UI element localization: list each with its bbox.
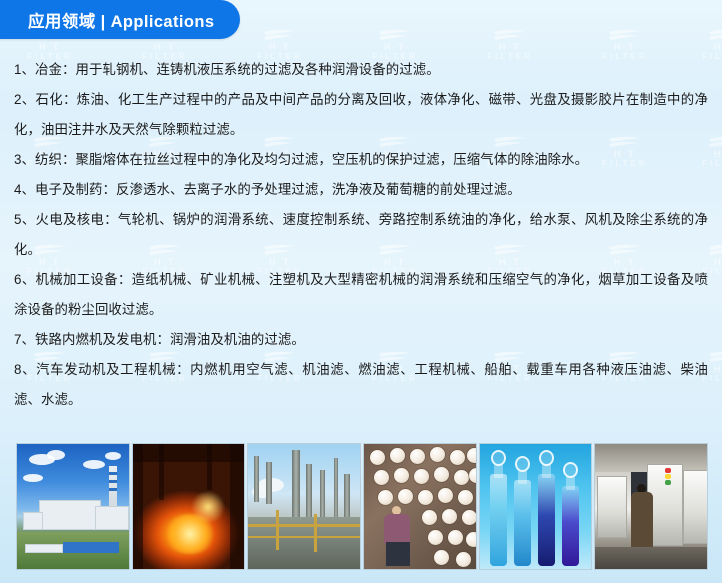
- machine-status-light: [665, 468, 671, 473]
- application-item-1: 1、冶金：用于轧钢机、连铸机液压系统的过滤及各种润滑设备的过滤。: [14, 55, 708, 85]
- cnc-operator: [631, 492, 653, 548]
- machine-status-light: [665, 480, 671, 485]
- gallery-photo-power-plant[interactable]: [16, 443, 130, 570]
- application-gallery: [16, 443, 708, 570]
- application-item-3: 3、纺织：聚脂熔体在拉丝过程中的净化及均匀过滤，空压机的保护过滤，压缩气体的除油…: [14, 145, 708, 175]
- application-item-5: 5、火电及核电：气轮机、锅炉的润滑系统、速度控制系统、旁路控制系统油的净化，给水…: [14, 205, 708, 265]
- section-title-pill: 应用领域 | Applications: [0, 0, 240, 39]
- gallery-photo-laboratory-glassware[interactable]: [479, 443, 593, 570]
- gallery-photo-cnc-workshop[interactable]: [594, 443, 708, 570]
- gallery-photo-textile-factory[interactable]: [363, 443, 477, 570]
- application-item-2: 2、石化：炼油、化工生产过程中的产品及中间产品的分离及回收，液体净化、磁带、光盘…: [14, 85, 708, 145]
- machine-status-light: [665, 474, 671, 479]
- page-header: 应用领域 | Applications: [0, 0, 722, 47]
- application-item-7: 7、铁路内燃机及发电机：润滑油及机油的过滤。: [14, 325, 708, 355]
- applications-page: H T FILTER H T FILTER H T FILTER H T FIL…: [0, 0, 722, 583]
- application-item-6: 6、机械加工设备：造纸机械、矿业机械、注塑机及大型精密机械的润滑系统和压缩空气的…: [14, 265, 708, 325]
- application-item-8: 8、汽车发动机及工程机械：内燃机用空气滤、机油滤、燃油滤、工程机械、船舶、载重车…: [14, 355, 708, 415]
- page-title: 应用领域 | Applications: [28, 8, 214, 32]
- applications-list: 1、冶金：用于轧钢机、连铸机液压系统的过滤及各种润滑设备的过滤。 2、石化：炼油…: [0, 47, 722, 415]
- gallery-photo-steel-mill[interactable]: [132, 443, 246, 570]
- textile-worker-legs: [386, 542, 410, 566]
- gallery-photo-petrochemical-refinery[interactable]: [247, 443, 361, 570]
- application-item-4: 4、电子及制药：反渗透水、去离子水的予处理过滤，洗净液及葡萄糖的前处理过滤。: [14, 175, 708, 205]
- textile-worker: [384, 514, 410, 544]
